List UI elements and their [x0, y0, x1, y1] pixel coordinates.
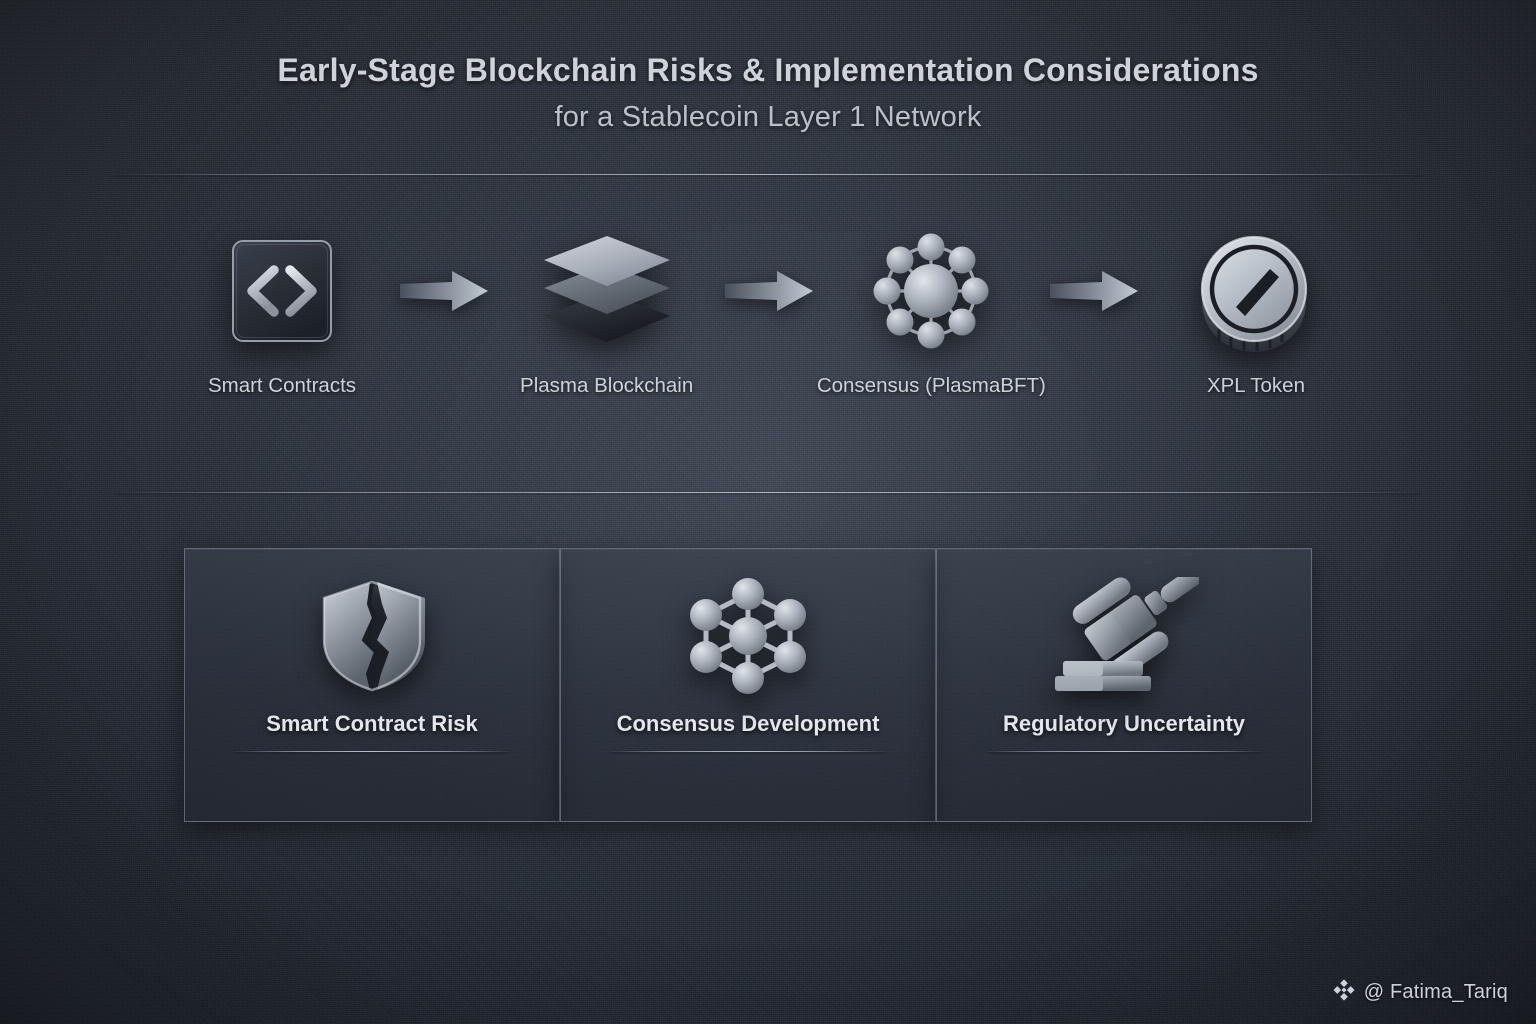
hex-network-icon [673, 575, 823, 697]
network-nodes-icon [851, 228, 1011, 354]
page-title-line-2: for a Stablecoin Layer 1 Network [0, 94, 1536, 140]
coin-token-icon [1176, 228, 1336, 354]
flow-step-label: Smart Contracts [208, 374, 356, 398]
watermark-handle: @ Fatima_Tariq [1364, 981, 1508, 1004]
card-title: Consensus Development [617, 711, 880, 737]
stacked-layers-icon [527, 228, 687, 354]
cracked-shield-icon [297, 575, 447, 697]
arrow-right-icon [1042, 228, 1146, 354]
gavel-icon [1049, 575, 1199, 697]
arrow-right-icon [717, 228, 821, 354]
flow-step-label: Consensus (PlasmaBFT) [817, 374, 1046, 398]
divider-middle [115, 492, 1421, 493]
page-title-line-1: Early-Stage Blockchain Risks & Implement… [0, 46, 1536, 94]
flow-diagram: Smart Contracts [184, 228, 1354, 428]
flow-step-label: Plasma Blockchain [520, 374, 693, 398]
card-underline [988, 751, 1260, 752]
flow-step-xpl-token[interactable]: XPL Token [1158, 228, 1354, 398]
card-underline [236, 751, 508, 752]
arrow-right-icon [392, 228, 496, 354]
card-underline [612, 751, 884, 752]
card-title: Regulatory Uncertainty [1003, 711, 1245, 737]
card-title: Smart Contract Risk [266, 711, 478, 737]
card-regulatory-uncertainty[interactable]: Regulatory Uncertainty [936, 548, 1312, 822]
flow-step-plasma-blockchain[interactable]: Plasma Blockchain [509, 228, 705, 398]
risk-cards: Smart Contract Risk [184, 548, 1312, 822]
card-smart-contract-risk[interactable]: Smart Contract Risk [184, 548, 560, 822]
flow-step-label: XPL Token [1207, 374, 1305, 398]
code-brackets-icon [202, 228, 362, 354]
flow-step-consensus[interactable]: Consensus (PlasmaBFT) [833, 228, 1029, 398]
divider-top [115, 174, 1421, 175]
card-consensus-development[interactable]: Consensus Development [560, 548, 936, 822]
watermark: @ Fatima_Tariq [1333, 979, 1508, 1006]
page-header: Early-Stage Blockchain Risks & Implement… [0, 0, 1536, 140]
flow-step-smart-contracts[interactable]: Smart Contracts [184, 228, 380, 398]
binance-diamond-icon [1333, 979, 1355, 1006]
